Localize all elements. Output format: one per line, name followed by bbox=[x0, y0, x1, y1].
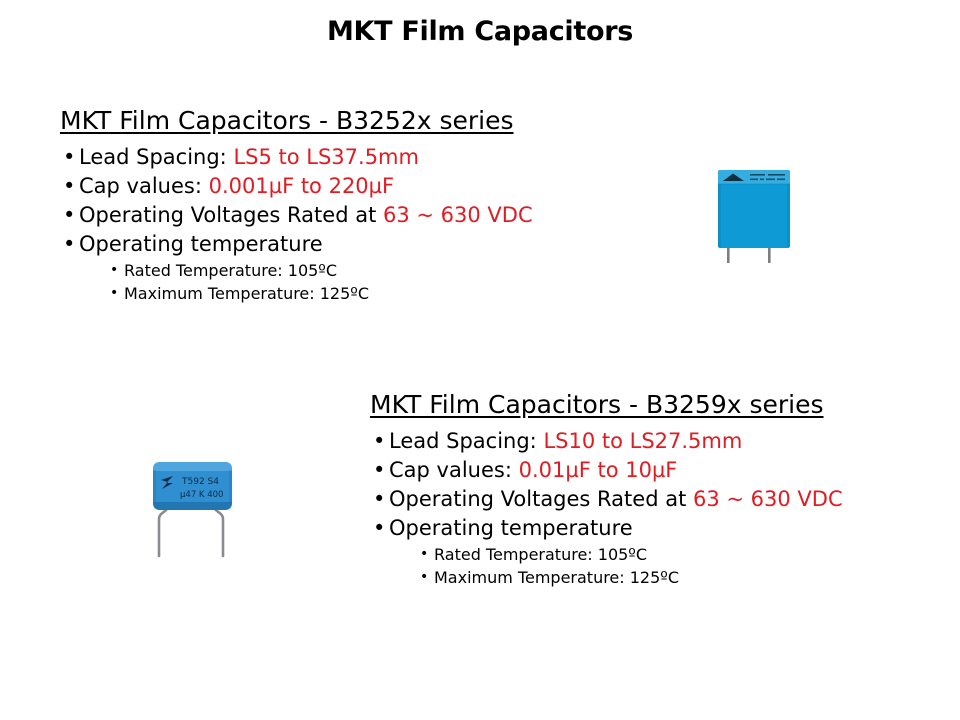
bullet-dot-icon: • bbox=[373, 427, 385, 456]
sub-bullet-text: Maximum Temperature: 125ºC bbox=[124, 284, 369, 303]
sub-bullet-text: Maximum Temperature: 125ºC bbox=[434, 568, 679, 587]
bullet-label: Operating Voltages Rated at bbox=[389, 487, 693, 511]
bullet-dot-icon: • bbox=[420, 566, 428, 589]
sub-bullet-text: Rated Temperature: 105ºC bbox=[434, 545, 647, 564]
bullet-dot-icon: • bbox=[110, 282, 118, 305]
section-heading-b3252x: MKT Film Capacitors - B3252x series bbox=[60, 106, 680, 136]
page-title: MKT Film Capacitors bbox=[0, 16, 960, 47]
list-item: • Lead Spacing: LS10 to LS27.5mm bbox=[370, 427, 900, 456]
capacitor-marking-line-2: µ47 K 400 bbox=[180, 490, 223, 500]
list-item: • Lead Spacing: LS5 to LS37.5mm bbox=[60, 143, 680, 172]
list-item: • Operating Voltages Rated at 63 ~ 630 V… bbox=[60, 201, 680, 230]
bullet-label: Cap values: bbox=[79, 174, 209, 198]
bullet-value: 0.01µF to 10µF bbox=[519, 458, 678, 482]
list-item: • Rated Temperature: 105ºC bbox=[110, 259, 680, 282]
list-item: • Maximum Temperature: 125ºC bbox=[110, 282, 680, 305]
capacitor-marking-line-1: T592 S4 bbox=[181, 477, 219, 487]
bullet-label: Lead Spacing: bbox=[389, 429, 543, 453]
bullet-dot-icon: • bbox=[373, 514, 385, 543]
bullet-value: LS5 to LS37.5mm bbox=[233, 145, 419, 169]
bullet-dot-icon: • bbox=[373, 485, 385, 514]
bullet-label: Lead Spacing: bbox=[79, 145, 233, 169]
bullet-dot-icon: • bbox=[373, 456, 385, 485]
capacitor-rounded-image: T592 S4 µ47 K 400 bbox=[142, 452, 254, 562]
bullet-dot-icon: • bbox=[63, 230, 75, 259]
bullet-dot-icon: • bbox=[420, 543, 428, 566]
bullet-dot-icon: • bbox=[63, 201, 75, 230]
list-item: • Maximum Temperature: 125ºC bbox=[420, 566, 900, 589]
bullet-dot-icon: • bbox=[110, 259, 118, 282]
list-item: • Operating temperature bbox=[60, 230, 680, 259]
section-b3259x: MKT Film Capacitors - B3259x series • Le… bbox=[370, 390, 900, 589]
bullet-dot-icon: • bbox=[63, 143, 75, 172]
bullet-label: Operating Voltages Rated at bbox=[79, 203, 383, 227]
list-item: • Cap values: 0.01µF to 10µF bbox=[370, 456, 900, 485]
bullet-label: Operating temperature bbox=[389, 516, 633, 540]
bullet-value: LS10 to LS27.5mm bbox=[543, 429, 742, 453]
sub-bullet-list-b3252x: • Rated Temperature: 105ºC • Maximum Tem… bbox=[60, 259, 680, 305]
section-heading-b3259x: MKT Film Capacitors - B3259x series bbox=[370, 390, 900, 420]
bullet-list-b3259x: • Lead Spacing: LS10 to LS27.5mm • Cap v… bbox=[370, 427, 900, 543]
bullet-value: 63 ~ 630 VDC bbox=[383, 203, 533, 227]
capacitor-box-image bbox=[706, 162, 810, 270]
sub-bullet-text: Rated Temperature: 105ºC bbox=[124, 261, 337, 280]
bullet-dot-icon: • bbox=[63, 172, 75, 201]
bullet-value: 0.001µF to 220µF bbox=[209, 174, 395, 198]
list-item: • Operating temperature bbox=[370, 514, 900, 543]
bullet-label: Cap values: bbox=[389, 458, 519, 482]
list-item: • Rated Temperature: 105ºC bbox=[420, 543, 900, 566]
list-item: • Cap values: 0.001µF to 220µF bbox=[60, 172, 680, 201]
list-item: • Operating Voltages Rated at 63 ~ 630 V… bbox=[370, 485, 900, 514]
bullet-label: Operating temperature bbox=[79, 232, 323, 256]
section-b3252x: MKT Film Capacitors - B3252x series • Le… bbox=[60, 106, 680, 305]
bullet-value: 63 ~ 630 VDC bbox=[693, 487, 843, 511]
bullet-list-b3252x: • Lead Spacing: LS5 to LS37.5mm • Cap va… bbox=[60, 143, 680, 259]
slide-canvas: MKT Film Capacitors MKT Film Capacitors … bbox=[0, 0, 960, 720]
sub-bullet-list-b3259x: • Rated Temperature: 105ºC • Maximum Tem… bbox=[370, 543, 900, 589]
